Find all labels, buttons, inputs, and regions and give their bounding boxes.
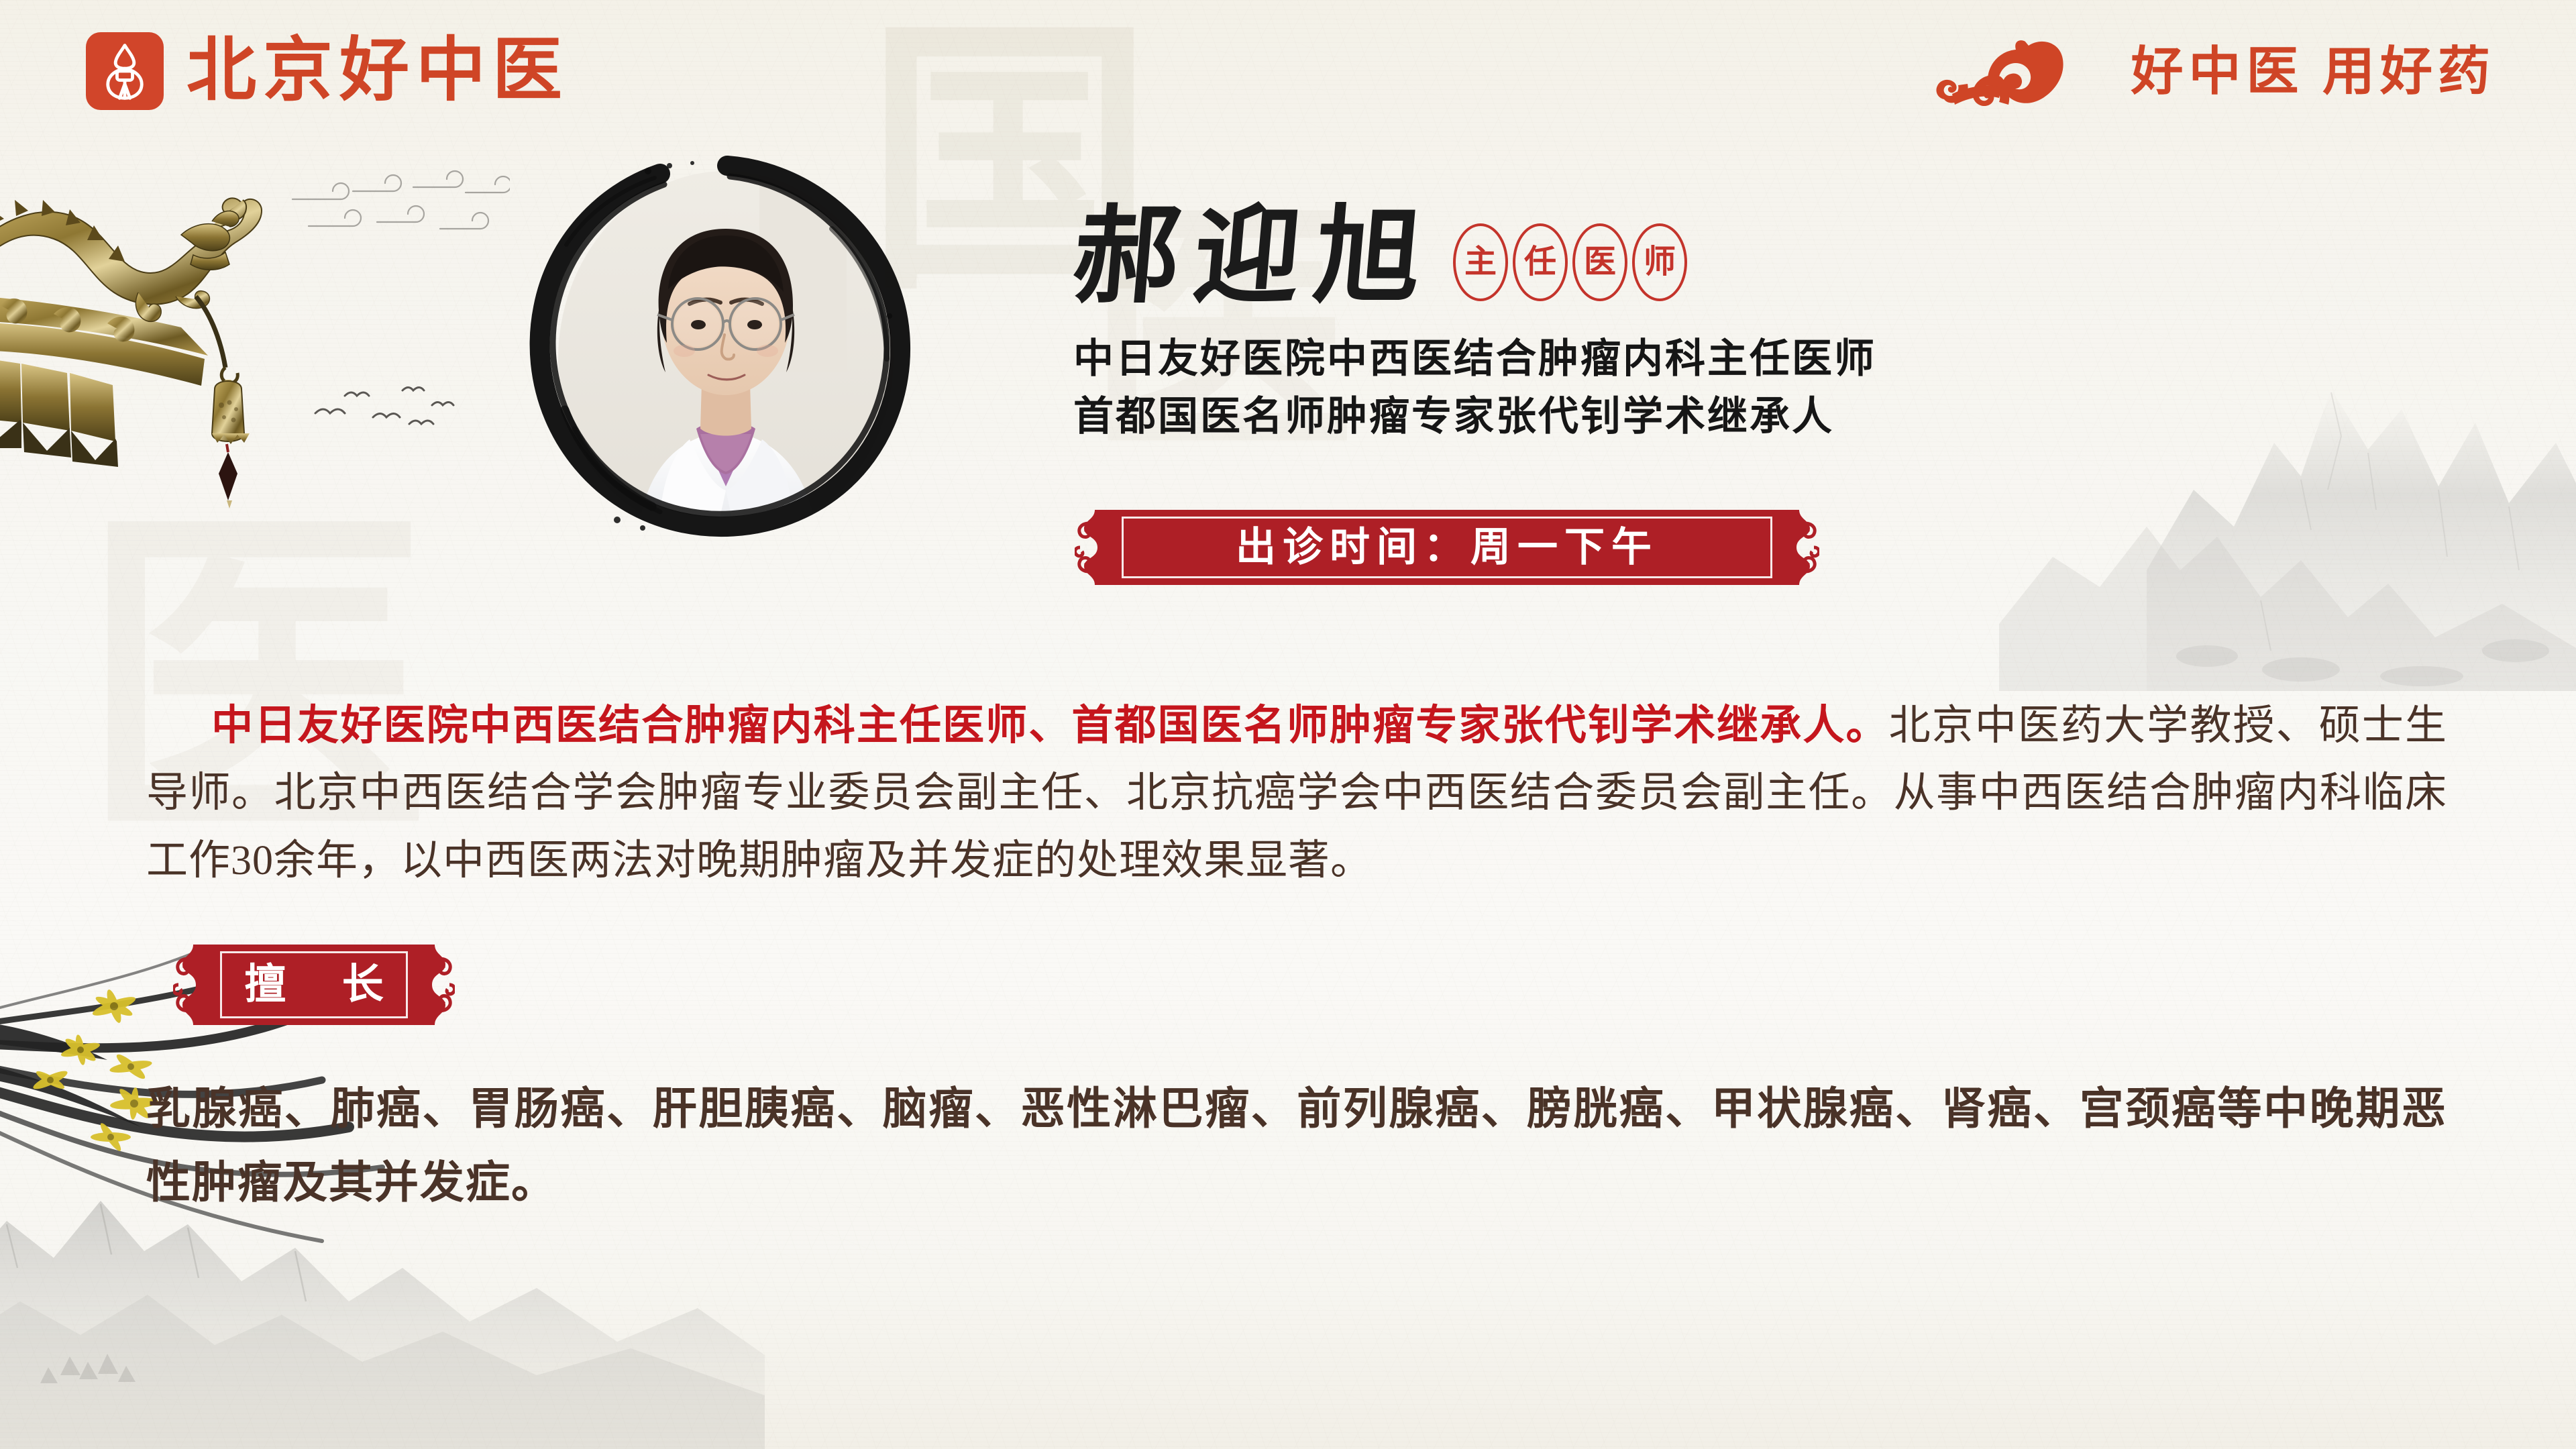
- enso-brush-circle-icon: [517, 144, 932, 560]
- title-badge-char: 师: [1644, 246, 1676, 278]
- doctor-portrait: [517, 144, 932, 560]
- skills-banner-body: 擅 长: [212, 945, 416, 1025]
- brand-name: 北京好中医: [186, 36, 569, 106]
- title-badge-char: 医: [1584, 246, 1616, 278]
- skills-banner: 擅 长: [173, 945, 455, 1025]
- title-badge-2: 任: [1513, 223, 1568, 301]
- flying-birds-icon: [309, 376, 456, 449]
- doctor-name-block: 郝迎旭 主 任 医 师 中日友好医院中西医结合肿瘤内科主任医师 首都国医名师肿瘤…: [1073, 201, 2449, 445]
- schedule-banner: 出诊时间：周一下午: [1075, 510, 1819, 585]
- slogan-block: 好中医 用好药: [1935, 35, 2495, 109]
- name-row: 郝迎旭 主 任 医 师: [1073, 201, 2449, 313]
- doctor-bio: 中日友好医院中西医结合肿瘤内科主任医师、首都国医名师肿瘤专家张代钊学术继承人。北…: [146, 692, 2447, 894]
- title-badge-char: 主: [1464, 246, 1497, 278]
- bio-highlight: 中日友好医院中西医结合肿瘤内科主任医师、首都国医名师肿瘤专家张代钊学术继承人。: [211, 703, 1889, 749]
- doctor-name: 郝迎旭: [1069, 201, 1441, 313]
- doctor-subtitle-1: 中日友好医院中西医结合肿瘤内科主任医师: [1073, 331, 2449, 388]
- title-badge-1: 主: [1453, 223, 1508, 301]
- cloud-scroll-ornament-right: [1780, 510, 1819, 585]
- skills-heading: 擅 长: [221, 964, 407, 1006]
- cloud-scroll-ornament-left: [173, 945, 212, 1025]
- cloud-lines-icon: [288, 164, 510, 252]
- brand-logo[interactable]: 北京好中医: [86, 32, 569, 110]
- skills-text: 乳腺癌、肺癌、胃肠癌、肝胆胰癌、脑瘤、恶性淋巴瘤、前列腺癌、膀胱癌、甲状腺癌、肾…: [146, 1072, 2447, 1219]
- schedule-banner-body: 出诊时间：周一下午: [1114, 510, 1780, 585]
- title-badge-char: 任: [1524, 246, 1556, 278]
- slogan-text: 好中医 用好药: [2131, 46, 2495, 98]
- gourd-seal-icon: [86, 32, 164, 110]
- title-badge-4: 师: [1632, 223, 1687, 301]
- doctor-title-badges: 主 任 医 师: [1453, 223, 1687, 313]
- doctor-subtitle-2: 首都国医名师肿瘤专家张代钊学术继承人: [1073, 388, 2449, 445]
- cloud-scroll-ornament-right: [416, 945, 455, 1025]
- cloud-scroll-ornament-left: [1075, 510, 1114, 585]
- ruyi-cloud-icon: [1935, 35, 2102, 109]
- schedule-label: 出诊时间：周一下午: [1236, 527, 1658, 568]
- poster-canvas: 国 医 医: [0, 0, 2576, 1449]
- doctor-subtitles: 中日友好医院中西医结合肿瘤内科主任医师 首都国医名师肿瘤专家张代钊学术继承人: [1073, 331, 2449, 445]
- title-badge-3: 医: [1572, 223, 1627, 301]
